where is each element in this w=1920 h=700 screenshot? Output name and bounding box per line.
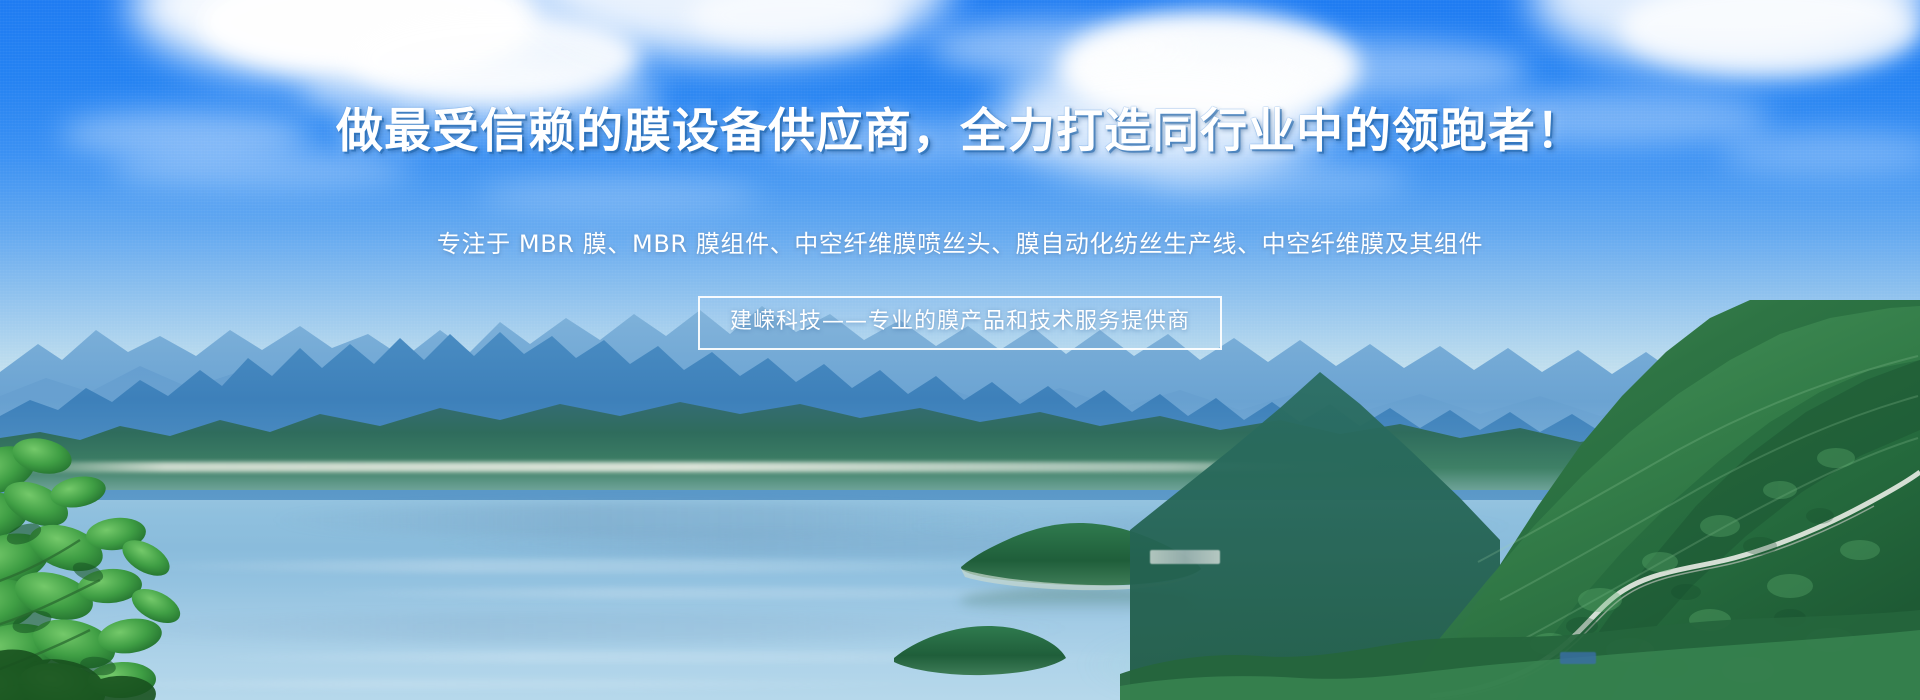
foreground-foliage-corner — [0, 620, 190, 700]
shore-building-blue — [1560, 652, 1596, 664]
near-shore-forest — [1120, 600, 1920, 700]
shore-buildings — [1150, 550, 1220, 564]
hero-banner: 做最受信赖的膜设备供应商，全力打造同行业中的领跑者！ 专注于 MBR 膜、MBR… — [0, 0, 1920, 700]
island-small — [890, 618, 1070, 680]
